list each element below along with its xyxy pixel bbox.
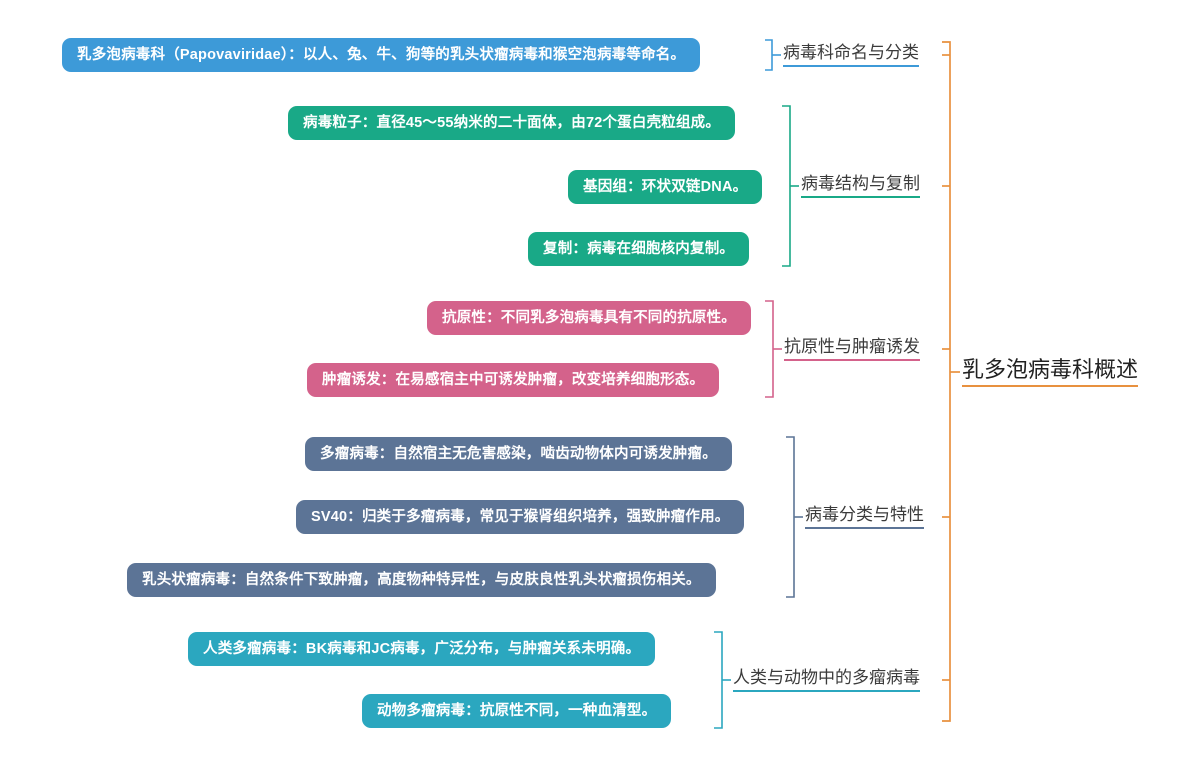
bracket-polyoma bbox=[714, 632, 731, 728]
root-node[interactable]: 乳多泡病毒科概述 bbox=[962, 358, 1138, 387]
leaf-node[interactable]: 动物多瘤病毒：抗原性不同，一种血清型。 bbox=[362, 694, 671, 728]
branch-label-classification[interactable]: 病毒分类与特性 bbox=[805, 506, 924, 529]
branch-underline bbox=[805, 527, 924, 529]
branch-underline bbox=[783, 65, 919, 67]
branch-label-polyoma[interactable]: 人类与动物中的多瘤病毒 bbox=[733, 669, 920, 692]
root-label-text: 乳多泡病毒科概述 bbox=[962, 357, 1138, 382]
bracket-classification bbox=[786, 437, 803, 597]
bracket-root bbox=[942, 42, 960, 721]
branch-label-antigen[interactable]: 抗原性与肿瘤诱发 bbox=[784, 338, 920, 361]
leaf-node[interactable]: 基因组：环状双链DNA。 bbox=[568, 170, 762, 204]
branch-label-text: 抗原性与肿瘤诱发 bbox=[784, 337, 920, 356]
leaf-node[interactable]: 病毒粒子：直径45～55纳米的二十面体，由72个蛋白壳粒组成。 bbox=[288, 106, 735, 140]
branch-label-text: 人类与动物中的多瘤病毒 bbox=[733, 668, 920, 687]
leaf-node[interactable]: 肿瘤诱发：在易感宿主中可诱发肿瘤，改变培养细胞形态。 bbox=[307, 363, 719, 397]
leaf-node[interactable]: 乳头状瘤病毒：自然条件下致肿瘤，高度物种特异性，与皮肤良性乳头状瘤损伤相关。 bbox=[127, 563, 716, 597]
leaf-node[interactable]: SV40：归类于多瘤病毒，常见于猴肾组织培养，强致肿瘤作用。 bbox=[296, 500, 744, 534]
leaf-node[interactable]: 抗原性：不同乳多泡病毒具有不同的抗原性。 bbox=[427, 301, 751, 335]
branch-label-text: 病毒分类与特性 bbox=[805, 505, 924, 524]
root-underline bbox=[962, 385, 1138, 387]
leaf-node[interactable]: 多瘤病毒：自然宿主无危害感染，啮齿动物体内可诱发肿瘤。 bbox=[305, 437, 732, 471]
branch-label-text: 病毒结构与复制 bbox=[801, 174, 920, 193]
branch-underline bbox=[733, 690, 920, 692]
branch-underline bbox=[801, 196, 920, 198]
bracket-structure bbox=[782, 106, 799, 266]
branch-label-naming[interactable]: 病毒科命名与分类 bbox=[783, 44, 919, 67]
branch-label-structure[interactable]: 病毒结构与复制 bbox=[801, 175, 920, 198]
leaf-node[interactable]: 复制：病毒在细胞核内复制。 bbox=[528, 232, 749, 266]
leaf-node[interactable]: 乳多泡病毒科（Papovaviridae）：以人、兔、牛、狗等的乳头状瘤病毒和猴… bbox=[62, 38, 700, 72]
mindmap-canvas: 乳多泡病毒科（Papovaviridae）：以人、兔、牛、狗等的乳头状瘤病毒和猴… bbox=[0, 0, 1200, 770]
leaf-node[interactable]: 人类多瘤病毒：BK病毒和JC病毒，广泛分布，与肿瘤关系未明确。 bbox=[188, 632, 655, 666]
branch-label-text: 病毒科命名与分类 bbox=[783, 43, 919, 62]
bracket-antigen bbox=[765, 301, 782, 397]
branch-underline bbox=[784, 359, 920, 361]
bracket-naming bbox=[765, 40, 781, 70]
